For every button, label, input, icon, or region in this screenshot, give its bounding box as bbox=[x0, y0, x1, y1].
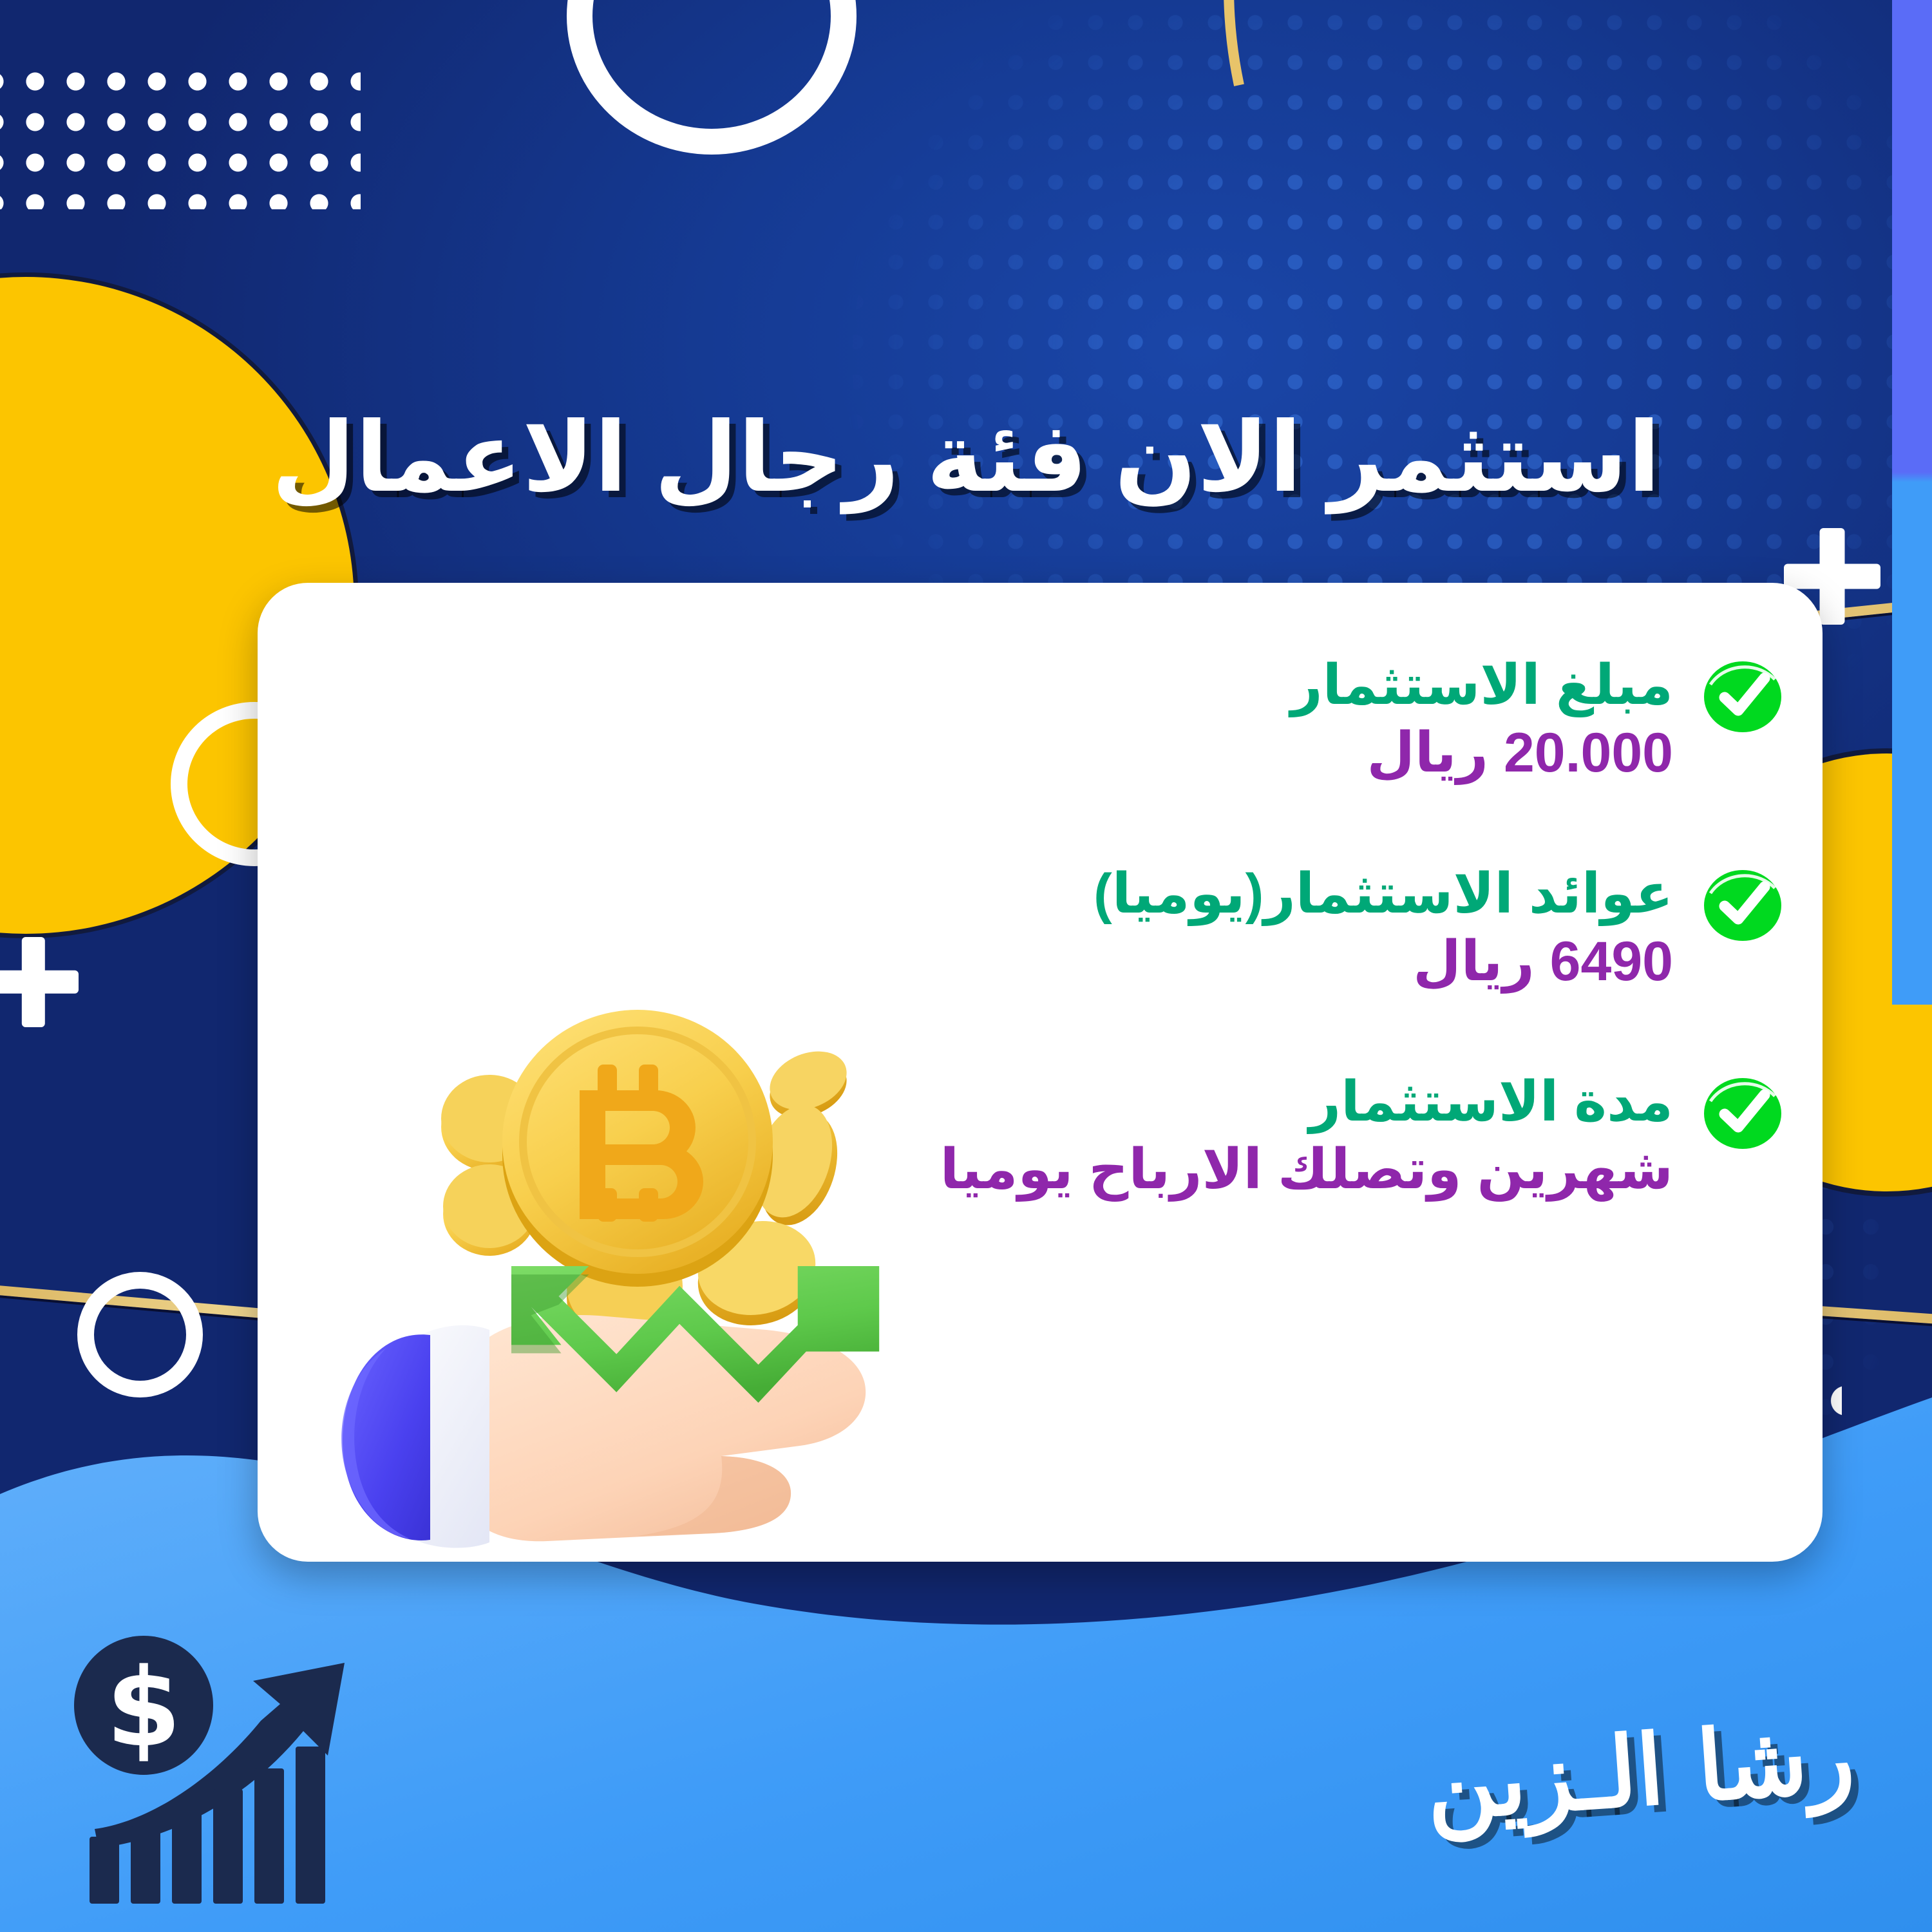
sleeve bbox=[341, 1325, 489, 1548]
feature-heading: عوائد الاستثمار(يوميا) bbox=[902, 862, 1673, 925]
green-check-icon bbox=[1701, 867, 1784, 943]
dot-grid-top-left bbox=[0, 61, 361, 209]
feature-list: مبلغ الاستثمار 20.000 ريال عوائد الاستثم… bbox=[895, 654, 1784, 1203]
feature-item: عوائد الاستثمار(يوميا) 6490 ريال bbox=[895, 862, 1784, 995]
feature-value: 20.000 ريال bbox=[902, 721, 1673, 786]
poster-canvas: استثمر الان فئة رجال الاعمال bbox=[0, 0, 1932, 1932]
dollar-symbol: $ bbox=[106, 1645, 182, 1771]
plus-icon-left bbox=[0, 937, 79, 1027]
feature-item: مبلغ الاستثمار 20.000 ريال bbox=[895, 654, 1784, 786]
feature-heading: مبلغ الاستثمار bbox=[902, 654, 1673, 717]
hand-holding-bitcoin-growth-arrow-3d-illustration bbox=[277, 995, 934, 1575]
feature-text: عوائد الاستثمار(يوميا) 6490 ريال bbox=[895, 862, 1673, 995]
feature-item: مدة الاستثمار شهرين وتصلك الارباح يوميا bbox=[895, 1070, 1784, 1203]
feature-heading: مدة الاستثمار bbox=[902, 1070, 1673, 1133]
offer-card: مبلغ الاستثمار 20.000 ريال عوائد الاستثم… bbox=[258, 583, 1823, 1562]
green-check-icon bbox=[1701, 1075, 1784, 1151]
feature-text: مبلغ الاستثمار 20.000 ريال bbox=[895, 654, 1673, 786]
feature-text: مدة الاستثمار شهرين وتصلك الارباح يوميا bbox=[895, 1070, 1673, 1203]
dollar-coin-growth-chart-logo: $ bbox=[68, 1636, 390, 1913]
feature-value: شهرين وتصلك الارباح يوميا bbox=[902, 1137, 1673, 1202]
bitcoin-coin-icon bbox=[502, 1010, 773, 1287]
green-check-icon bbox=[1701, 659, 1784, 735]
feature-value: 6490 ريال bbox=[902, 929, 1673, 994]
page-title: استثمر الان فئة رجال الاعمال bbox=[0, 399, 1932, 515]
